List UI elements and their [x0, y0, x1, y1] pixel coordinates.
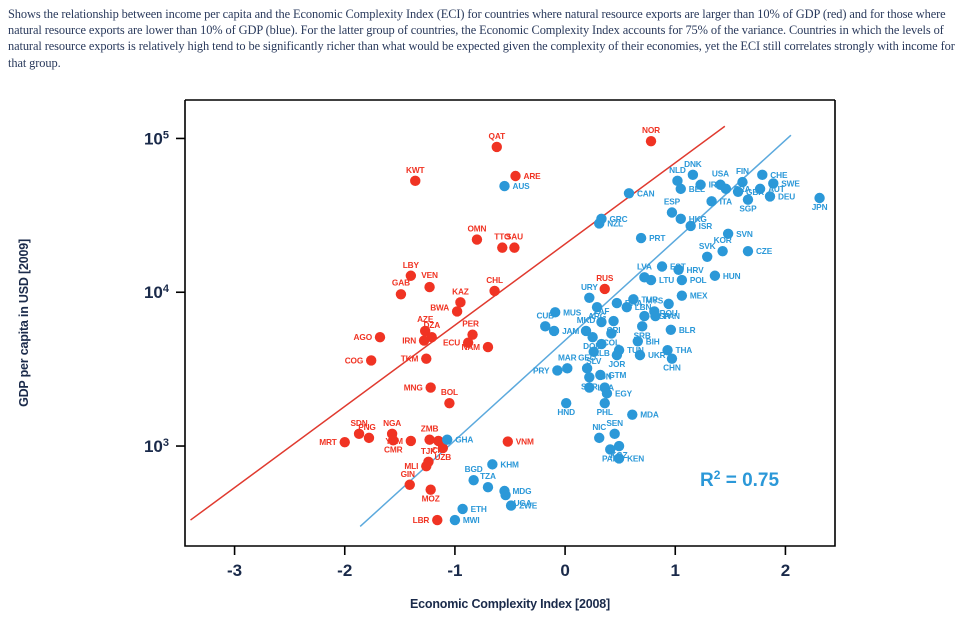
data-point[interactable] [457, 504, 467, 514]
point-label: MNG [404, 383, 423, 393]
y-axis-title: GDP per capita in USD [2009] [17, 239, 31, 407]
point-label: IRN [402, 336, 416, 346]
point-label: NZL [607, 218, 623, 228]
point-label: TZA [480, 471, 496, 481]
data-point[interactable] [455, 297, 465, 307]
point-label: MDG [512, 486, 531, 496]
point-label: TJK [421, 446, 436, 456]
data-point[interactable] [666, 325, 676, 335]
data-point[interactable] [624, 188, 634, 198]
data-point[interactable] [685, 221, 695, 231]
y-tick-label: 104 [144, 283, 170, 302]
point-label: PRY [533, 365, 550, 375]
point-label: GAB [392, 277, 410, 287]
data-point[interactable] [450, 515, 460, 525]
x-tick-label: -2 [337, 561, 352, 580]
data-point[interactable] [503, 436, 513, 446]
data-point[interactable] [702, 252, 712, 262]
point-label: KAZ [452, 286, 469, 296]
point-label: PER [462, 319, 479, 329]
data-point[interactable] [421, 353, 431, 363]
data-point[interactable] [364, 433, 374, 443]
point-label: LVA [637, 261, 652, 271]
point-label: COG [345, 355, 363, 365]
point-label: GHA [455, 435, 473, 445]
data-point[interactable] [375, 332, 385, 342]
point-label: ZWE [519, 501, 538, 511]
data-point[interactable] [721, 184, 731, 194]
point-label: PAN [663, 311, 680, 321]
point-label: GIN [401, 469, 415, 479]
plot-svg: QATKWTARENOROMNTTOSAULBYVENGABKAZCHLBWAR… [0, 86, 978, 623]
data-point[interactable] [596, 317, 606, 327]
point-label: BIH [646, 336, 660, 346]
x-tick-label: 1 [671, 561, 680, 580]
point-label: LBN [635, 302, 652, 312]
data-point[interactable] [627, 409, 637, 419]
data-point[interactable] [510, 171, 520, 181]
data-points-layer: QATKWTARENOROMNTTOSAULBYVENGABKAZCHLBWAR… [319, 125, 827, 525]
data-point[interactable] [506, 500, 516, 510]
point-label: LTU [659, 275, 674, 285]
data-point[interactable] [622, 302, 632, 312]
data-point[interactable] [677, 275, 687, 285]
point-label: MAR [558, 352, 577, 362]
point-label: MOZ [422, 494, 440, 504]
data-point[interactable] [487, 459, 497, 469]
data-point[interactable] [673, 265, 683, 275]
point-label: QAT [489, 131, 506, 141]
point-label: KOR [714, 235, 732, 245]
data-point[interactable] [549, 326, 559, 336]
data-point[interactable] [500, 490, 510, 500]
figure-caption: Shows the relationship between income pe… [8, 6, 966, 71]
point-label: MRT [319, 437, 337, 447]
data-point[interactable] [639, 272, 649, 282]
point-label: CUB [536, 310, 554, 320]
point-label: HND [557, 407, 575, 417]
data-point[interactable] [688, 170, 698, 180]
point-label: HRV [687, 265, 705, 275]
data-point[interactable] [340, 437, 350, 447]
data-point[interactable] [614, 453, 624, 463]
point-label: CAN [637, 188, 655, 198]
point-label: AUS [512, 181, 530, 191]
data-point[interactable] [639, 311, 649, 321]
point-label: MDA [640, 410, 659, 420]
point-label: ITA [720, 196, 732, 206]
point-label: KEN [627, 453, 644, 463]
point-label: BLR [679, 325, 696, 335]
scatter-chart: QATKWTARENOROMNTTOSAULBYVENGABKAZCHLBWAR… [0, 86, 978, 623]
data-point[interactable] [497, 242, 507, 252]
data-point[interactable] [636, 233, 646, 243]
data-point[interactable] [406, 436, 416, 446]
data-point[interactable] [562, 363, 572, 373]
data-point[interactable] [609, 429, 619, 439]
point-label: URY [581, 282, 598, 292]
point-label: PNG [358, 422, 376, 432]
data-point[interactable] [676, 184, 686, 194]
point-label: DZA [423, 320, 440, 330]
point-label: ZMB [421, 424, 439, 434]
point-label: MEX [690, 291, 708, 301]
data-point[interactable] [602, 388, 612, 398]
data-point[interactable] [646, 136, 656, 146]
data-point[interactable] [540, 321, 550, 331]
point-label: IRL [709, 180, 722, 190]
y-tick-label: 103 [144, 437, 169, 456]
data-point[interactable] [432, 515, 442, 525]
data-point[interactable] [757, 170, 767, 180]
point-label: NGA [383, 418, 401, 428]
point-label: FIN [736, 166, 749, 176]
point-label: MWI [463, 515, 480, 525]
point-label: NAM [462, 342, 481, 352]
point-label: BWA [430, 302, 449, 312]
data-point[interactable] [650, 311, 660, 321]
data-point[interactable] [594, 433, 604, 443]
data-point[interactable] [584, 382, 594, 392]
point-label: ESP [664, 196, 681, 206]
point-label: NLD [669, 165, 686, 175]
point-label: ETH [471, 504, 487, 514]
data-point[interactable] [594, 218, 604, 228]
data-point[interactable] [421, 461, 431, 471]
data-point[interactable] [405, 480, 415, 490]
data-point[interactable] [552, 365, 562, 375]
point-label: SAU [506, 232, 523, 242]
point-label: USA [712, 169, 729, 179]
point-label: HUN [723, 271, 741, 281]
data-point[interactable] [706, 196, 716, 206]
point-label: ARE [524, 171, 542, 181]
data-point[interactable] [499, 181, 509, 191]
data-point[interactable] [483, 482, 493, 492]
data-point[interactable] [444, 398, 454, 408]
data-point[interactable] [765, 191, 775, 201]
x-tick-label: -1 [447, 561, 462, 580]
data-point[interactable] [396, 289, 406, 299]
data-point[interactable] [425, 382, 435, 392]
point-label: ZAF [594, 306, 610, 316]
point-label: BOL [441, 387, 458, 397]
point-label: IDN [598, 372, 612, 382]
point-label: VNM [516, 437, 534, 447]
point-label: KWT [406, 165, 425, 175]
data-point[interactable] [657, 261, 667, 271]
point-label: PRT [649, 233, 665, 243]
point-label: MKD [577, 315, 596, 325]
data-point[interactable] [410, 176, 420, 186]
point-label: JPN [812, 202, 828, 212]
x-tick-label: -3 [227, 561, 242, 580]
point-label: LBR [413, 515, 430, 525]
point-label: CZE [756, 246, 773, 256]
data-point[interactable] [366, 355, 376, 365]
point-label: NOR [642, 125, 660, 135]
point-label: POL [690, 275, 707, 285]
data-point[interactable] [635, 350, 645, 360]
x-tick-label: 2 [781, 561, 790, 580]
point-label: YEM [385, 436, 403, 446]
point-label: JOR [609, 359, 626, 369]
x-tick-label: 0 [560, 561, 569, 580]
point-label: DNK [684, 159, 702, 169]
data-point[interactable] [677, 290, 687, 300]
point-label: SEN [606, 418, 623, 428]
data-point[interactable] [667, 207, 677, 217]
point-label: NIC [592, 422, 606, 432]
point-label: DEU [778, 191, 795, 201]
r-squared-annotation: R2 = 0.75 [700, 468, 779, 491]
point-label: UZB [434, 452, 451, 462]
data-point[interactable] [419, 335, 429, 345]
point-label: JAM [562, 326, 579, 336]
point-label: LBY [403, 260, 420, 270]
point-label: CHL [486, 275, 503, 285]
point-label: EGY [615, 388, 633, 398]
point-label: VEN [421, 270, 438, 280]
data-point[interactable] [492, 142, 502, 152]
data-point[interactable] [710, 271, 720, 281]
data-point[interactable] [582, 363, 592, 373]
data-point[interactable] [483, 342, 493, 352]
data-point[interactable] [717, 246, 727, 256]
data-point[interactable] [733, 187, 743, 197]
point-label: CHN [663, 363, 681, 373]
point-label: KHM [500, 459, 519, 469]
point-label: ISR [699, 221, 713, 231]
point-label: SGP [739, 204, 757, 214]
data-point[interactable] [489, 286, 499, 296]
point-label: THA [676, 345, 693, 355]
point-label: ECU [443, 338, 460, 348]
point-label: TKM [401, 354, 419, 364]
point-label: RUS [596, 273, 614, 283]
point-label: OMN [467, 224, 486, 234]
data-point[interactable] [509, 242, 519, 252]
data-point[interactable] [743, 246, 753, 256]
point-label: AGO [354, 332, 373, 342]
data-point[interactable] [452, 306, 462, 316]
y-tick-label: 105 [144, 129, 169, 148]
point-label: SVK [699, 241, 716, 251]
point-label: PHL [597, 407, 613, 417]
data-point[interactable] [472, 234, 482, 244]
annotations-layer: R2 = 0.75 [700, 468, 779, 491]
point-label: GEO [578, 352, 597, 362]
data-point[interactable] [424, 282, 434, 292]
point-label: BEL [689, 184, 705, 194]
data-point[interactable] [424, 434, 434, 444]
data-point[interactable] [584, 293, 594, 303]
x-axis-title: Economic Complexity Index [2008] [410, 597, 610, 611]
data-point[interactable] [442, 434, 452, 444]
data-point[interactable] [600, 284, 610, 294]
data-point[interactable] [676, 214, 686, 224]
data-point[interactable] [468, 475, 478, 485]
point-label: SVN [736, 229, 753, 239]
data-point[interactable] [612, 298, 622, 308]
